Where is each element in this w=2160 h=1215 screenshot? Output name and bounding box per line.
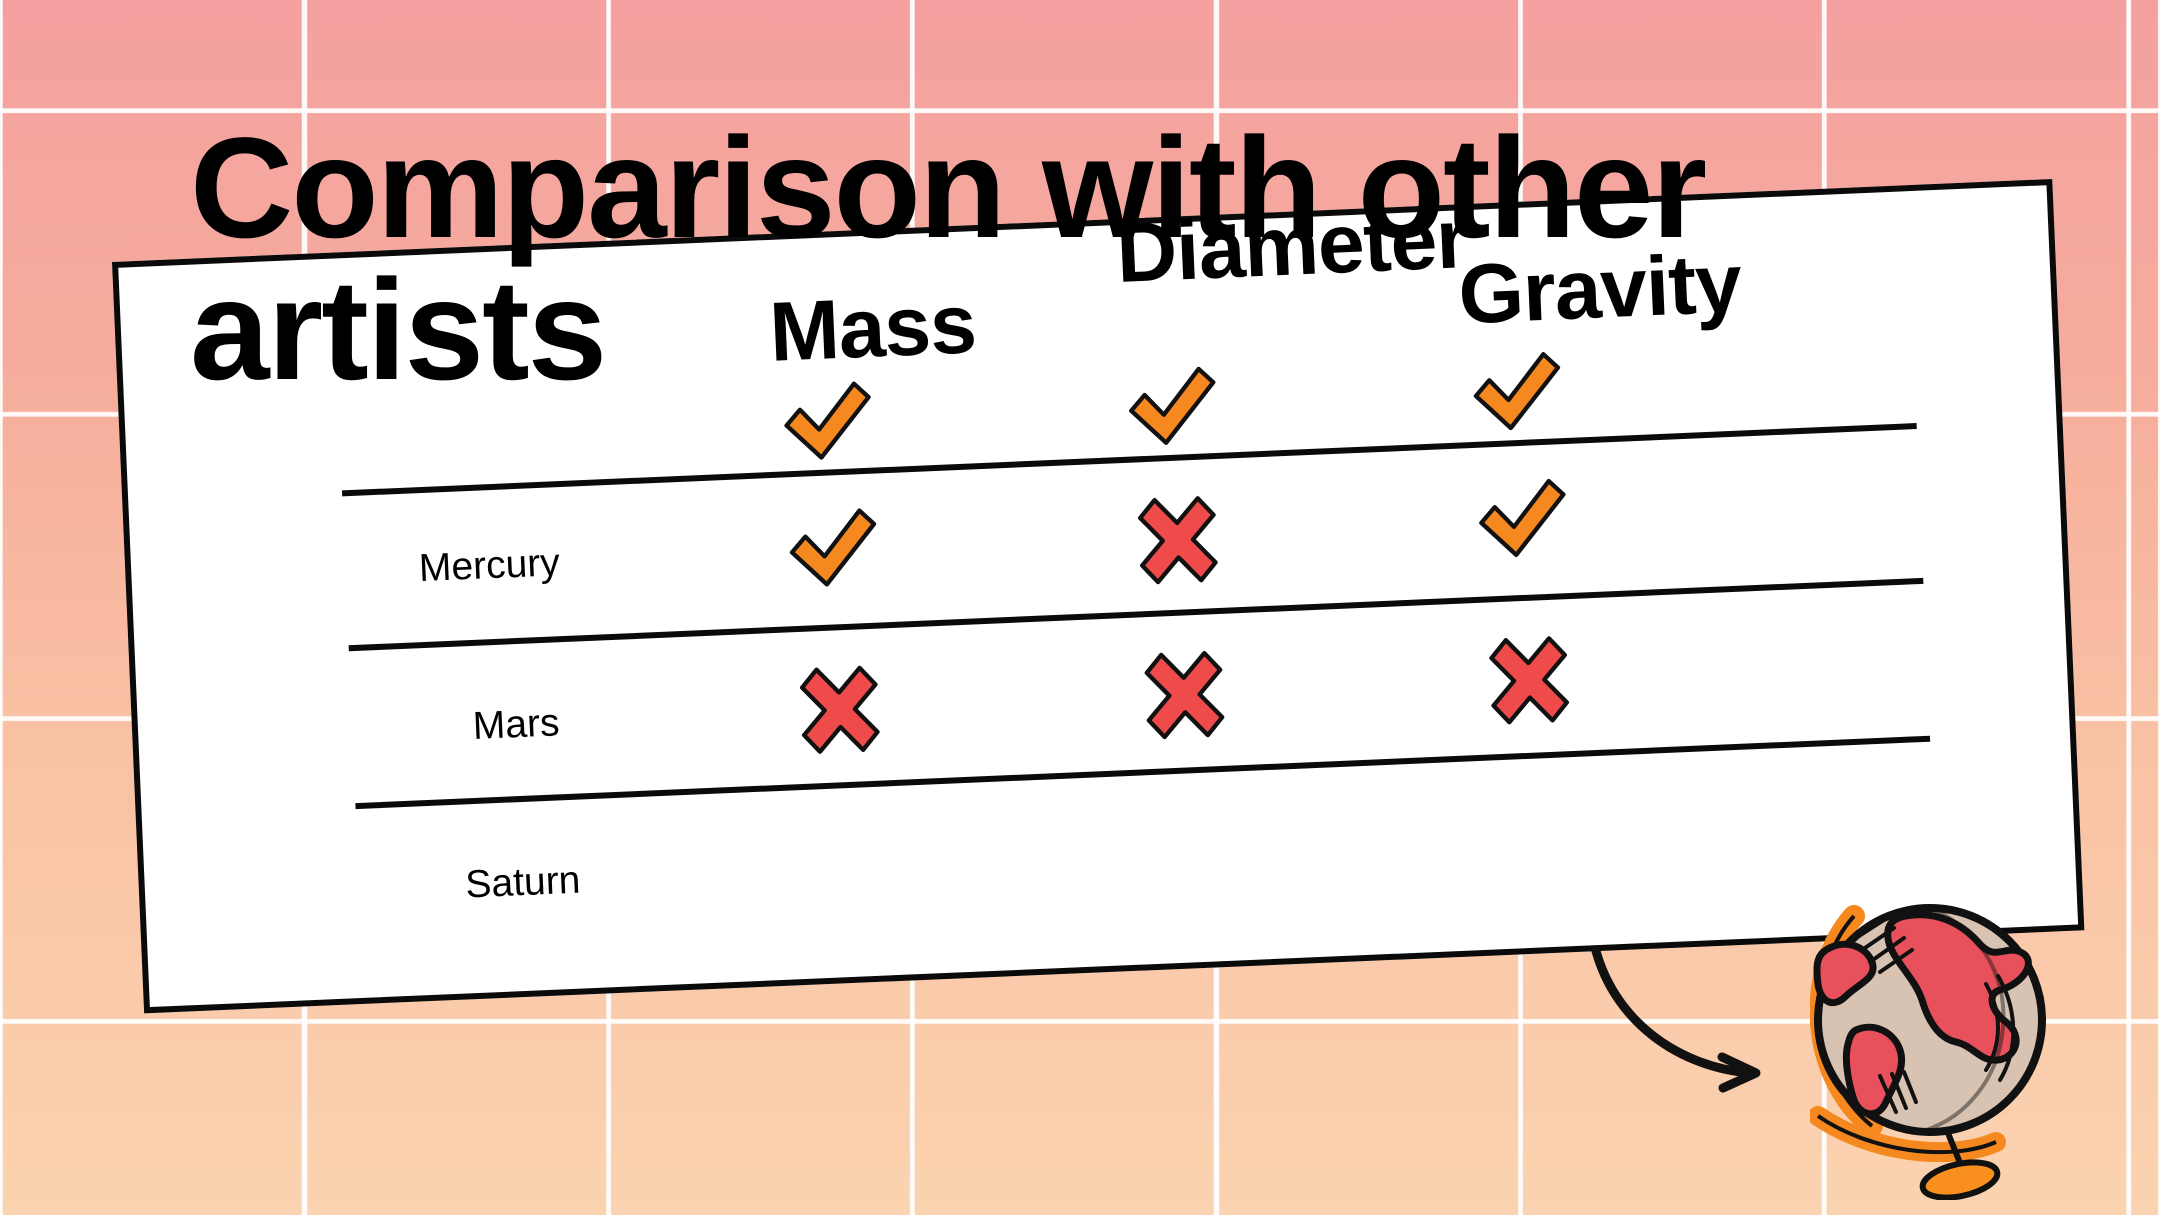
cross-icon <box>783 647 896 760</box>
cross-icon <box>1128 632 1241 745</box>
cross-icon <box>1121 477 1234 590</box>
row-divider <box>355 736 1930 809</box>
row-label-mars: Mars <box>365 697 667 754</box>
check-icon <box>1466 463 1579 576</box>
row-label-saturn: Saturn <box>372 855 674 912</box>
cross-icon <box>1473 618 1586 731</box>
row-label-mercury: Mercury <box>339 538 641 595</box>
globe-icon <box>1810 880 2110 1200</box>
check-icon <box>777 492 890 605</box>
page-title: Comparison with other artists <box>190 118 1890 401</box>
